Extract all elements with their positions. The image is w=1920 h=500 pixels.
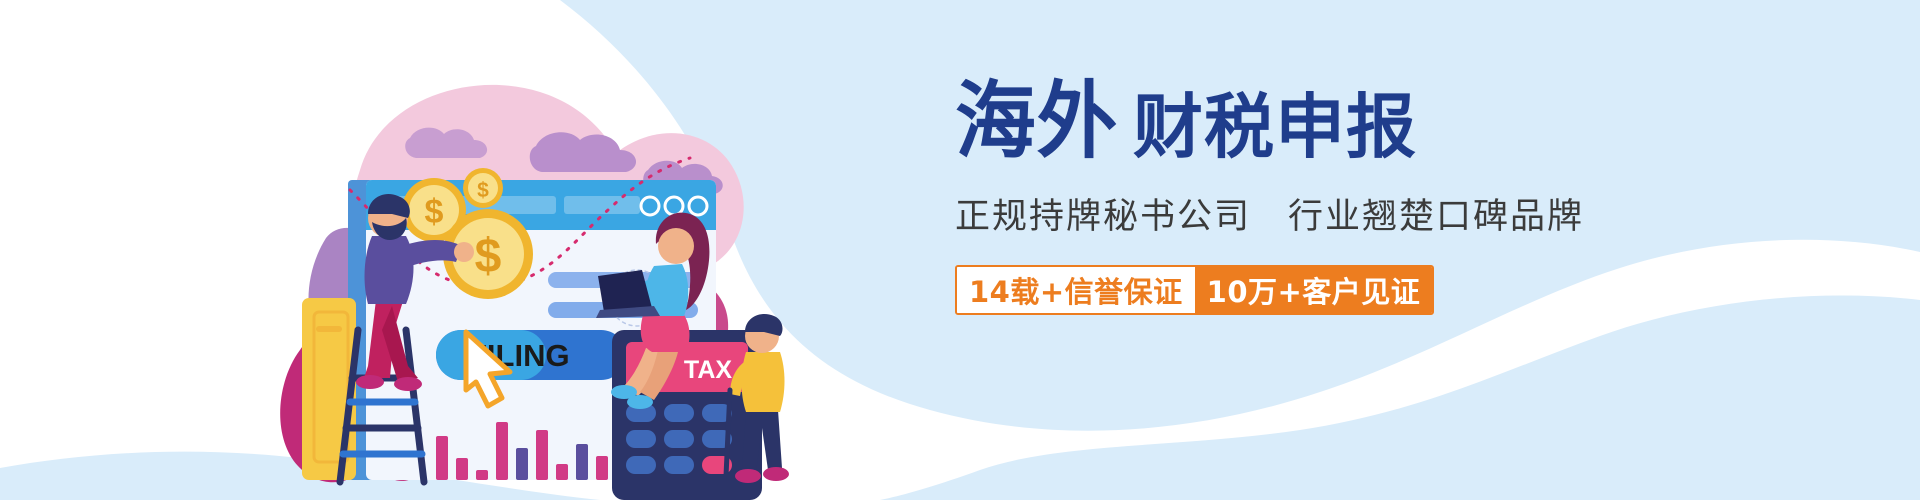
coin-small: $ xyxy=(463,168,503,208)
banner-root: FILING $ $ $ xyxy=(0,0,1920,500)
svg-text:$: $ xyxy=(475,230,502,283)
man-shoe-right xyxy=(394,377,422,391)
illustration-svg: FILING $ $ $ xyxy=(240,30,800,500)
svg-text:$: $ xyxy=(425,193,444,231)
badge-credit-guarantee: 14载+信誉保证 xyxy=(957,267,1195,313)
man-hand xyxy=(454,242,474,262)
subtitle: 正规持牌秘书公司 行业翘楚口碑品牌 xyxy=(955,188,1595,239)
text-block: 海外 财税申报 正规持牌秘书公司 行业翘楚口碑品牌 14载+信誉保证 10万+客… xyxy=(955,70,1595,370)
umbrella-man-shoe-1 xyxy=(735,469,761,483)
umbrella-man-shoe-2 xyxy=(763,467,789,481)
woman-shoe-2 xyxy=(627,395,653,409)
calculator-keys xyxy=(626,404,732,474)
headline-part-1: 海外 xyxy=(955,82,1118,162)
man-shoe-left xyxy=(356,375,384,389)
cloud-center xyxy=(530,132,636,172)
umbrella-man-torso xyxy=(742,352,785,412)
woman-skirt xyxy=(641,312,690,352)
woman-head xyxy=(658,228,694,264)
svg-text:$: $ xyxy=(477,179,489,202)
badge-customer-proof: 10万+客户见证 xyxy=(1195,267,1433,313)
calculator-display-label: TAX xyxy=(684,356,732,384)
badge-group: 14载+信誉保证 10万+客户见证 xyxy=(955,265,1434,315)
headline-part-2: 财税申报 xyxy=(1133,94,1417,161)
headline: 海外 财税申报 xyxy=(955,70,1595,162)
illustration: FILING $ $ $ xyxy=(240,30,800,500)
browser-header-tab-3 xyxy=(564,196,640,214)
